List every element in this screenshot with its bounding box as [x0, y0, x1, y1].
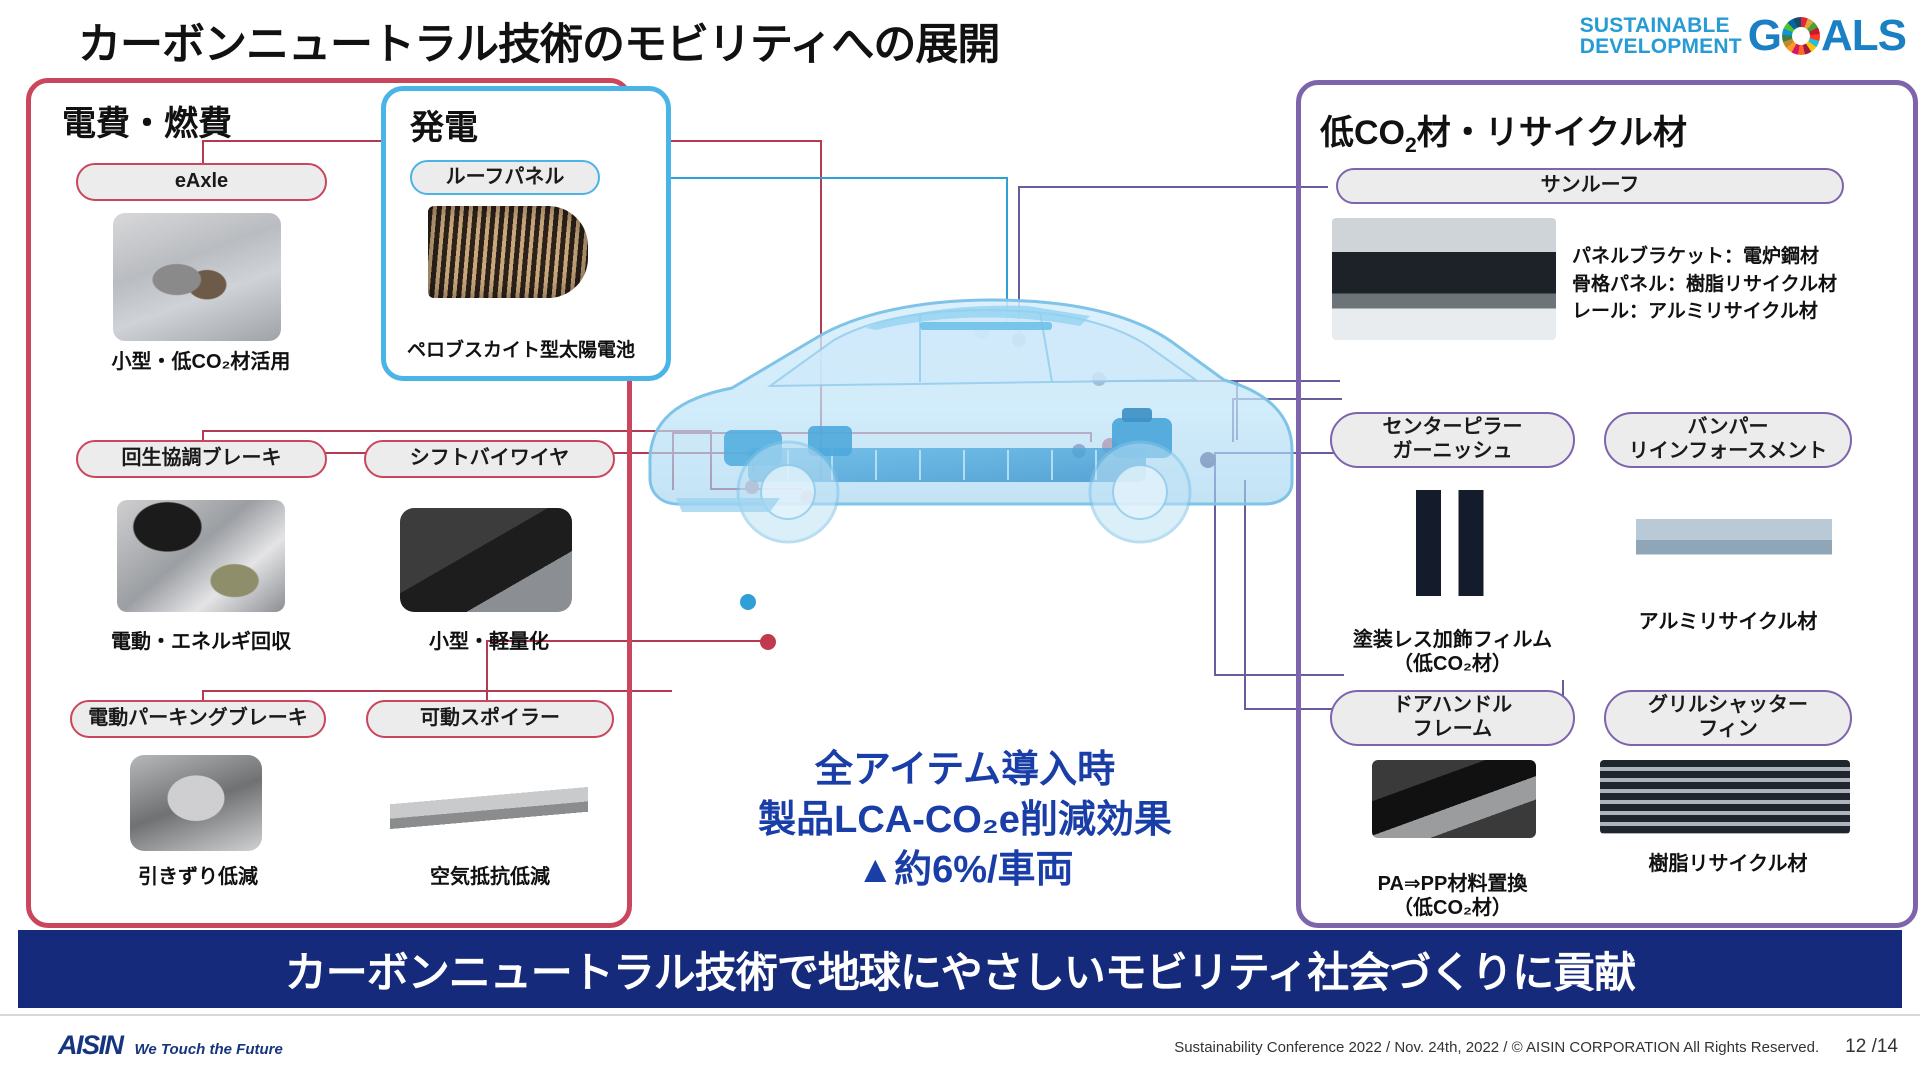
panel-materials-title: 低CO2材・リサイクル材 [1320, 105, 1687, 158]
bottom-banner: カーボンニュートラル技術で地球にやさしいモビリティ社会づくりに貢献 [18, 930, 1902, 1008]
caption-bumper-reinforcement: アルミリサイクル材 [1604, 610, 1852, 634]
vehicle-illustration [620, 230, 1320, 580]
footer-page-number: 12 /14 [1845, 1036, 1898, 1058]
caption-center-pillar-garnish: 塗装レス加飾フィルム （低CO₂材） [1330, 604, 1575, 676]
slide-root: カーボンニュートラル技術のモビリティへの展開 SUSTAINABLE DEVEL… [0, 0, 1920, 1080]
pill-regenerative-brake[interactable]: 回生協調ブレーキ [76, 440, 327, 478]
aisin-logo: AISIN We Touch the Future [58, 1030, 283, 1061]
aisin-tagline: We Touch the Future [135, 1041, 283, 1058]
caption-eaxle: 小型・低CO₂材活用 [76, 350, 326, 374]
door-handle-frame-photo [1372, 760, 1536, 838]
center-statement: 全アイテム導入時 製品LCA-CO₂e削減効果 ▲約6%/車両 [620, 745, 1310, 895]
eaxle-photo [113, 213, 281, 341]
sdg-goals-g: G [1748, 14, 1781, 58]
pill-center-pillar-garnish-label[interactable]: センターピラー ガーニッシュ [1383, 416, 1523, 463]
pill-bumper-reinforcement: バンパー リインフォースメント [1604, 412, 1852, 468]
panel-generation-title: 発電 [410, 100, 478, 149]
caption-regenerative-brake: 電動・エネルギ回収 [76, 630, 326, 654]
sunroof-photo [1332, 218, 1556, 340]
footer-right: Sustainability Conference 2022 / Nov. 24… [1174, 1036, 1898, 1058]
sdg-color-wheel-icon [1782, 17, 1820, 55]
footer-copyright: Sustainability Conference 2022 / Nov. 24… [1174, 1039, 1819, 1056]
center-pillar-garnish-photo [1396, 490, 1508, 596]
pill-electric-parking-brake[interactable]: 電動パーキングブレーキ [70, 700, 326, 738]
sdg-line-1: SUSTAINABLE [1580, 15, 1742, 36]
electric-parking-brake-photo [130, 755, 262, 851]
note-sunroof-2: 骨格パネル：樹脂リサイクル材 [1572, 271, 1837, 299]
sdg-logo-text: SUSTAINABLE DEVELOPMENT [1580, 15, 1742, 57]
pill-door-handle-frame-label[interactable]: ドアハンドル フレーム [1393, 694, 1512, 741]
sdg-goals-wordmark: G ALS [1748, 14, 1906, 58]
notes-sunroof: パネルブラケット：電炉鋼材 骨格パネル：樹脂リサイクル材 レール：アルミリサイク… [1572, 243, 1837, 326]
sdg-line-2: DEVELOPMENT [1580, 36, 1742, 57]
perovskite-solar-photo [428, 206, 588, 298]
pill-door-handle-frame: ドアハンドル フレーム [1330, 690, 1575, 746]
caption-movable-spoiler: 空気抵抗低減 [366, 865, 614, 889]
car-hotspot-spoiler-front [740, 594, 756, 610]
pill-sunroof[interactable]: サンルーフ [1336, 168, 1844, 204]
aisin-wordmark: AISIN [58, 1030, 123, 1061]
panel-efficiency-title: 電費・燃費 [62, 96, 232, 145]
pill-bumper-reinforcement-label[interactable]: バンパー リインフォースメント [1629, 416, 1827, 463]
caption-perovskite-solar: ペロブスカイト型太陽電池 [382, 340, 660, 363]
caption-shift-by-wire: 小型・軽量化 [364, 630, 614, 654]
center-statement-line-1: 全アイテム導入時 [620, 745, 1310, 795]
pill-center-pillar-garnish: センターピラー ガーニッシュ [1330, 412, 1575, 468]
connector-sunroof-h [1018, 186, 1328, 188]
caption-grille-shutter-fin: 樹脂リサイクル材 [1604, 852, 1852, 876]
bumper-reinforcement-photo [1636, 492, 1832, 596]
car-hotspot-spoiler [760, 634, 776, 650]
bottom-banner-text: カーボンニュートラル技術で地球にやさしいモビリティ社会づくりに貢献 [285, 939, 1635, 1000]
pill-eaxle[interactable]: eAxle [76, 163, 327, 201]
footer-divider [0, 1014, 1920, 1016]
pill-movable-spoiler[interactable]: 可動スポイラー [366, 700, 614, 738]
movable-spoiler-photo [390, 765, 588, 851]
pill-roof-panel[interactable]: ルーフパネル [410, 160, 600, 195]
caption-door-handle-frame: PA⇒PP材料置換 （低CO₂材） [1330, 848, 1575, 920]
sdg-goals-als: ALS [1821, 14, 1906, 58]
sdg-logo: SUSTAINABLE DEVELOPMENT G ALS [1580, 14, 1906, 58]
note-sunroof-1: パネルブラケット：電炉鋼材 [1572, 243, 1837, 271]
pill-shift-by-wire[interactable]: シフトバイワイヤ [364, 440, 615, 478]
note-sunroof-3: レール：アルミリサイクル材 [1572, 298, 1837, 326]
regenerative-brake-photo [117, 500, 285, 612]
pill-grille-shutter-fin: グリルシャッター フィン [1604, 690, 1852, 746]
page-title: カーボンニュートラル技術のモビリティへの展開 [78, 10, 999, 72]
grille-shutter-fin-photo [1600, 760, 1850, 834]
shift-by-wire-photo [400, 508, 572, 612]
center-statement-line-3: ▲約6%/車両 [620, 845, 1310, 895]
center-statement-line-2: 製品LCA-CO₂e削減効果 [620, 795, 1310, 845]
pill-grille-shutter-fin-label[interactable]: グリルシャッター フィン [1648, 694, 1808, 741]
caption-electric-parking-brake: 引きずり低減 [70, 865, 326, 889]
